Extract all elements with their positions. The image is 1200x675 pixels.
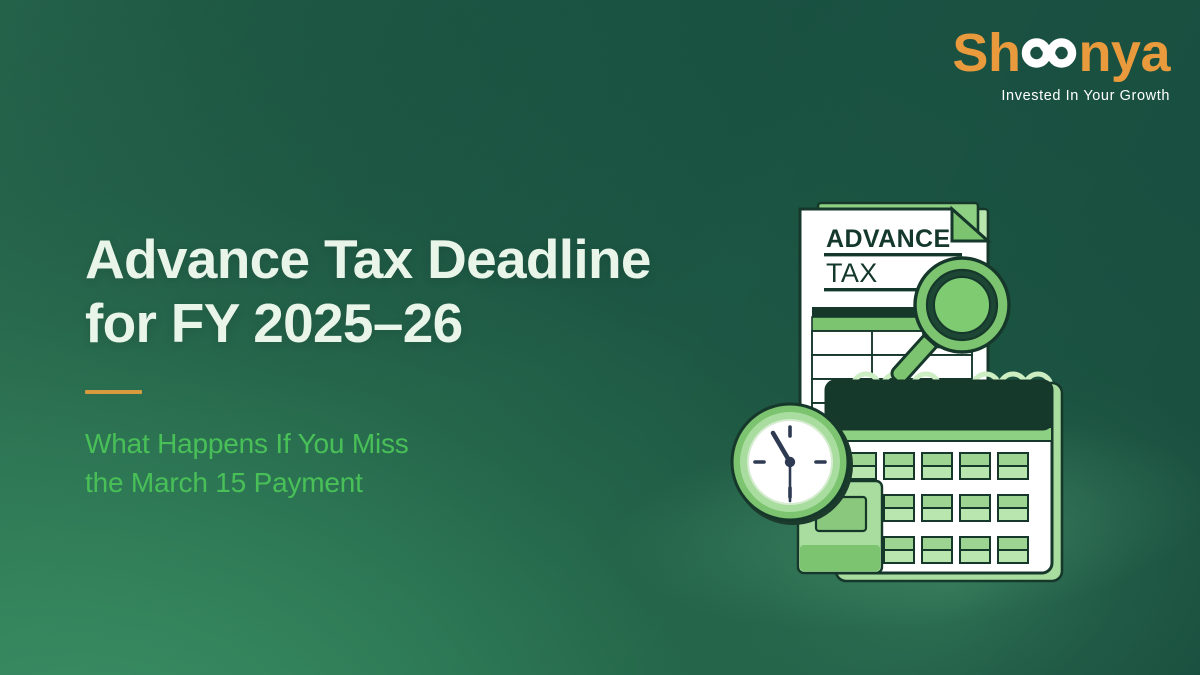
svg-text:ADVANCE: ADVANCE <box>826 225 951 253</box>
headline-line-2: for FY 2025–26 <box>85 292 785 356</box>
hero-copy-block: Advance Tax Deadline for FY 2025–26 What… <box>85 228 785 503</box>
svg-text:TAX: TAX <box>826 258 878 288</box>
accent-divider <box>85 390 142 394</box>
logo-text-right: nya <box>1078 26 1170 80</box>
logo-text-left: Sh <box>952 26 1020 80</box>
logo-wordmark: Sh nya <box>952 26 1170 80</box>
calendar-header <box>826 381 1052 429</box>
infinity-symbol-icon <box>1019 33 1079 73</box>
brand-logo[interactable]: Sh nya Invested In Your Growth <box>952 26 1170 104</box>
subheadline-line-1: What Happens If You Miss <box>85 424 785 464</box>
analog-clock <box>732 404 853 525</box>
hero-illustration: ADVANCE TAX <box>700 175 1100 575</box>
page-subtitle: What Happens If You Miss the March 15 Pa… <box>85 424 785 504</box>
banner-canvas: Sh nya Invested In Your Growth Advance T… <box>0 0 1200 675</box>
headline-line-1: Advance Tax Deadline <box>85 228 785 292</box>
page-title: Advance Tax Deadline for FY 2025–26 <box>85 228 785 356</box>
logo-tagline: Invested In Your Growth <box>952 88 1170 104</box>
subheadline-line-2: the March 15 Payment <box>85 463 785 503</box>
